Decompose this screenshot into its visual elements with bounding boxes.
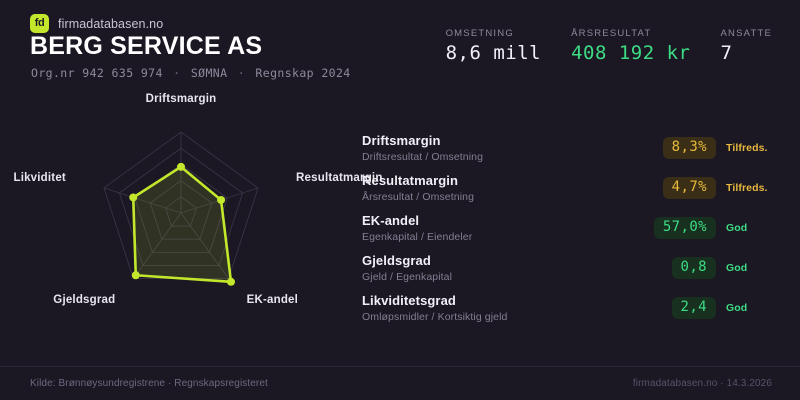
metric-text: Gjeldsgrad Gjeld / Egenkapital <box>362 253 452 283</box>
metric-row-likviditetsgrad[interactable]: Likviditetsgrad Omløpsmidler / Kortsikti… <box>362 288 782 328</box>
kpi-arsresultat: ÅRSRESULTAT 408 192 kr <box>571 28 690 63</box>
metric-formula: Gjeld / Egenkapital <box>362 271 452 283</box>
metric-right: 0,8 God <box>672 257 783 279</box>
kpi-value: 408 192 kr <box>571 44 690 63</box>
radar-axis-label-gjeldsgrad: Gjeldsgrad <box>0 294 115 306</box>
metric-name: Gjeldsgrad <box>362 253 452 268</box>
metric-text: Resultatmargin Årsresultat / Omsetning <box>362 173 474 203</box>
footer-source: Kilde: Brønnøysundregistrene · Regnskaps… <box>30 378 268 389</box>
metric-name: Likviditetsgrad <box>362 293 507 308</box>
metric-row-resultatmargin[interactable]: Resultatmargin Årsresultat / Omsetning 4… <box>362 168 782 208</box>
kpi-omsetning: OMSETNING 8,6 mill <box>446 28 542 63</box>
footer-stamp: firmadatabasen.no · 14.3.2026 <box>633 378 772 389</box>
metric-value-badge: 2,4 <box>672 297 717 319</box>
radar-axis-label-driftsmargin: Driftsmargin <box>0 93 362 105</box>
footer: Kilde: Brønnøysundregistrene · Regnskaps… <box>0 366 800 400</box>
report-period: Regnskap 2024 <box>255 66 350 80</box>
meta-separator-1: · <box>170 66 183 80</box>
metric-formula: Egenkapital / Eiendeler <box>362 231 472 243</box>
status-badge: Tilfreds. <box>726 142 782 154</box>
page-title: BERG SERVICE AS <box>30 33 262 61</box>
metric-right: 2,4 God <box>672 297 783 319</box>
kpi-value: 8,6 mill <box>446 44 542 63</box>
status-badge: God <box>726 262 782 274</box>
company-place: SØMNA <box>191 66 228 80</box>
brand[interactable]: fd firmadatabasen.no <box>30 14 163 33</box>
metrics-list: Driftsmargin Driftsresultat / Omsetning … <box>362 128 782 328</box>
metric-value-badge: 0,8 <box>672 257 717 279</box>
kpi-value: 7 <box>720 44 772 63</box>
metric-name: Driftsmargin <box>362 133 483 148</box>
metric-right: 57,0% God <box>654 217 782 239</box>
metric-value-badge: 57,0% <box>654 217 716 239</box>
metric-right: 8,3% Tilfreds. <box>663 137 782 159</box>
radar-chart-svg <box>0 88 355 346</box>
metric-name: EK-andel <box>362 213 472 228</box>
metric-right: 4,7% Tilfreds. <box>663 177 782 199</box>
status-badge: God <box>726 222 782 234</box>
metric-formula: Driftsresultat / Omsetning <box>362 151 483 163</box>
metric-text: Driftsmargin Driftsresultat / Omsetning <box>362 133 483 163</box>
metric-text: Likviditetsgrad Omløpsmidler / Kortsikti… <box>362 293 507 323</box>
kpi-label: ÅRSRESULTAT <box>571 28 690 39</box>
radar-axis-label-likviditet: Likviditet <box>0 172 66 184</box>
infographic-card: fd firmadatabasen.no BERG SERVICE AS Org… <box>0 0 800 400</box>
metric-value-badge: 4,7% <box>663 177 716 199</box>
metric-text: EK-andel Egenkapital / Eiendeler <box>362 213 472 243</box>
metric-row-gjeldsgrad[interactable]: Gjeldsgrad Gjeld / Egenkapital 0,8 God <box>362 248 782 288</box>
kpi-group: OMSETNING 8,6 mill ÅRSRESULTAT 408 192 k… <box>446 28 772 63</box>
status-badge: Tilfreds. <box>726 182 782 194</box>
status-badge: God <box>726 302 782 314</box>
metric-row-driftsmargin[interactable]: Driftsmargin Driftsresultat / Omsetning … <box>362 128 782 168</box>
radar-series-area <box>133 167 231 282</box>
footer-divider <box>0 366 800 367</box>
metric-formula: Årsresultat / Omsetning <box>362 191 474 203</box>
metric-name: Resultatmargin <box>362 173 474 188</box>
brand-name: firmadatabasen.no <box>58 17 163 31</box>
header: fd firmadatabasen.no BERG SERVICE AS Org… <box>0 0 800 88</box>
radar-axis-label-ek-andel: EK-andel <box>247 294 298 306</box>
metric-row-ek-andel[interactable]: EK-andel Egenkapital / Eiendeler 57,0% G… <box>362 208 782 248</box>
kpi-label: ANSATTE <box>720 28 772 39</box>
orgnr-label: Org.nr 942 635 974 <box>31 66 163 80</box>
metric-formula: Omløpsmidler / Kortsiktig gjeld <box>362 311 507 323</box>
meta-separator-2: · <box>235 66 248 80</box>
kpi-ansatte: ANSATTE 7 <box>720 28 772 63</box>
company-meta: Org.nr 942 635 974 · SØMNA · Regnskap 20… <box>31 66 351 80</box>
metric-value-badge: 8,3% <box>663 137 716 159</box>
firmadatabasen-logo-icon: fd <box>30 14 49 33</box>
kpi-label: OMSETNING <box>446 28 542 39</box>
radar-chart: Driftsmargin Resultatmargin EK-andel Gje… <box>0 88 355 346</box>
